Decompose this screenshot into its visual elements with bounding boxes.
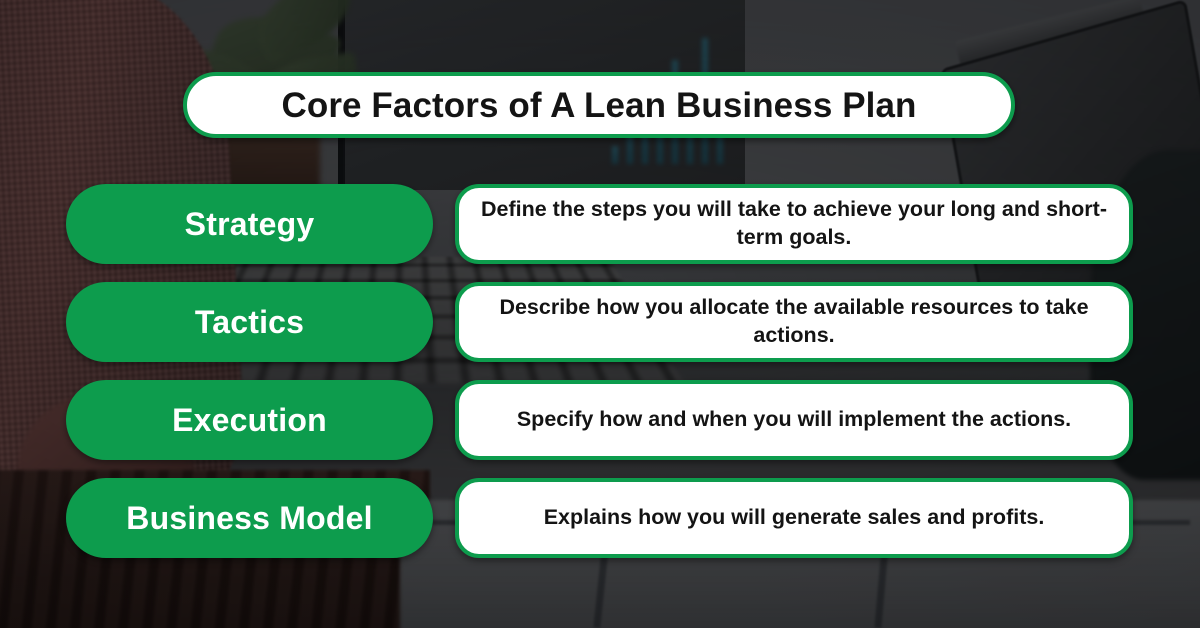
factor-label-pill-3[interactable]: Business Model xyxy=(66,478,433,558)
factor-description: Describe how you allocate the available … xyxy=(475,294,1113,349)
factor-description-chip-3[interactable]: Explains how you will generate sales and… xyxy=(455,478,1133,558)
factor-row: Business ModelExplains how you will gene… xyxy=(0,478,1200,558)
factor-label-pill-1[interactable]: Tactics xyxy=(66,282,433,362)
factor-label: Strategy xyxy=(185,208,315,240)
factor-label: Execution xyxy=(172,404,327,436)
infographic-canvas: Core Factors of A Lean Business Plan Str… xyxy=(0,0,1200,628)
factor-description-chip-2[interactable]: Specify how and when you will implement … xyxy=(455,380,1133,460)
factor-row: TacticsDescribe how you allocate the ava… xyxy=(0,282,1200,362)
factor-description: Specify how and when you will implement … xyxy=(517,406,1071,434)
factor-label-pill-2[interactable]: Execution xyxy=(66,380,433,460)
factor-row: StrategyDefine the steps you will take t… xyxy=(0,184,1200,264)
factor-description: Define the steps you will take to achiev… xyxy=(475,196,1113,251)
factor-row: ExecutionSpecify how and when you will i… xyxy=(0,380,1200,460)
factor-description: Explains how you will generate sales and… xyxy=(544,504,1045,532)
factor-description-chip-0[interactable]: Define the steps you will take to achiev… xyxy=(455,184,1133,264)
page-title-chip: Core Factors of A Lean Business Plan xyxy=(183,72,1015,138)
factor-label: Business Model xyxy=(126,502,372,534)
factor-label: Tactics xyxy=(195,306,304,338)
factor-label-pill-0[interactable]: Strategy xyxy=(66,184,433,264)
foreground-content: Core Factors of A Lean Business Plan Str… xyxy=(0,0,1200,628)
page-title: Core Factors of A Lean Business Plan xyxy=(281,88,916,123)
factor-rows: StrategyDefine the steps you will take t… xyxy=(0,184,1200,576)
factor-description-chip-1[interactable]: Describe how you allocate the available … xyxy=(455,282,1133,362)
